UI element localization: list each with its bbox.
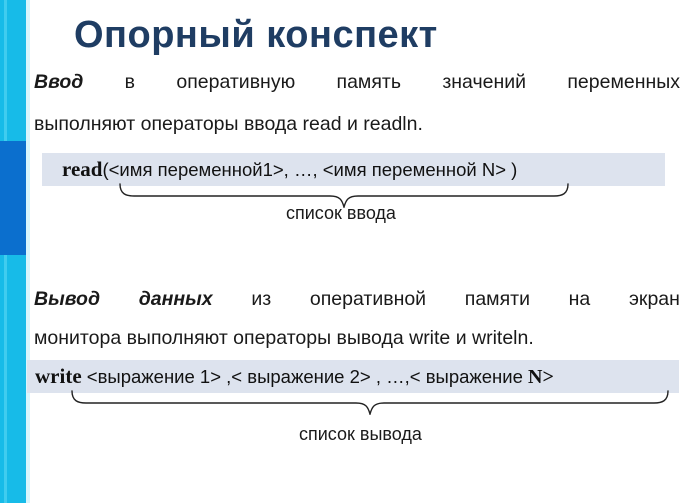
output-keyword-writeln: writeln	[472, 327, 528, 349]
output-lead-word-1: Вывод	[34, 283, 100, 315]
left-accent-rail	[0, 0, 26, 503]
output-paragraph-line2: монитора выполняют операторы вывода writ…	[34, 322, 534, 354]
output-keyword-write: write	[409, 327, 450, 349]
output-word-2: из	[251, 283, 271, 315]
output-lead-word-2: данных	[139, 283, 213, 315]
input-line2-conj: и	[342, 113, 364, 135]
input-lead-word: Ввод	[34, 66, 83, 98]
output-paragraph-line1: Вывод данных из оперативной памяти на эк…	[34, 283, 680, 315]
write-arguments: <выражение 1> ,< выражение 2> , …,< выра…	[82, 366, 528, 387]
input-word-5: переменных	[567, 66, 680, 98]
read-close-paren: )	[506, 159, 517, 180]
output-brace-caption: список вывода	[299, 424, 422, 445]
output-word-6: экран	[629, 283, 680, 315]
input-keyword-read: read	[303, 113, 342, 135]
read-arguments: <имя переменной1>, …, <имя переменной N>	[109, 159, 506, 180]
rail-edge-glow	[26, 0, 30, 503]
write-keyword: write	[35, 364, 82, 388]
slide-canvas: Опорный конспект Ввод в оперативную памя…	[0, 0, 680, 503]
input-word-2: оперативную	[176, 66, 295, 98]
output-word-4: памяти	[465, 283, 530, 315]
input-line2-period: .	[418, 113, 423, 135]
input-word-4: значений	[442, 66, 526, 98]
output-brace	[70, 389, 670, 415]
rail-dark-segment	[0, 141, 26, 255]
output-line2-conj: и	[450, 327, 472, 349]
write-arg-n: N>	[528, 366, 554, 388]
input-paragraph-line2: выполняют операторы ввода read и readln.	[34, 108, 423, 140]
input-word-1: в	[125, 66, 135, 98]
read-keyword: read	[62, 157, 102, 181]
input-brace-caption: список ввода	[286, 203, 396, 224]
input-paragraph-line1: Ввод в оперативную память значений перем…	[34, 66, 680, 98]
output-word-3: оперативной	[310, 283, 426, 315]
input-line2-prefix: выполняют операторы ввода	[34, 113, 303, 135]
page-title: Опорный конспект	[74, 14, 438, 57]
output-word-5: на	[569, 283, 591, 315]
input-keyword-readln: readln	[363, 113, 417, 135]
output-line2-period: .	[528, 327, 533, 349]
input-word-3: память	[337, 66, 401, 98]
output-line2-prefix: монитора выполняют операторы вывода	[34, 327, 409, 349]
